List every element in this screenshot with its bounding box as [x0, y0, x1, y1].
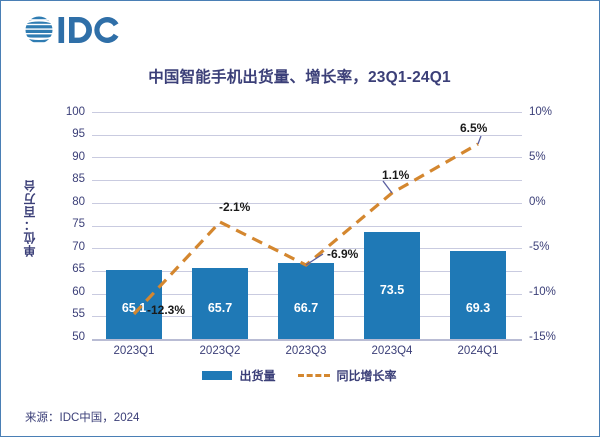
idc-globe-logo-icon — [23, 13, 141, 47]
x-label-2023Q3: 2023Q3 — [263, 345, 349, 357]
bar-value-2024Q1: 69.3 — [450, 301, 506, 315]
gridline — [92, 180, 522, 181]
line-value-2023Q3: -6.9% — [327, 247, 358, 261]
y-left-tick-85: 85 — [51, 174, 85, 185]
y-right-tick-m10: -10% — [529, 287, 577, 298]
bar-value-2023Q3: 66.7 — [278, 301, 334, 315]
legend-swatch-bar-icon — [202, 371, 232, 380]
y-left-tick-55: 55 — [51, 309, 85, 320]
legend-label-shipments: 出货量 — [239, 367, 275, 384]
bar-value-2023Q2: 65.7 — [192, 301, 248, 315]
y-left-tick-75: 75 — [51, 219, 85, 230]
y-left-tick-80: 80 — [51, 197, 85, 208]
header-bar — [1, 1, 598, 57]
gridline — [92, 157, 522, 158]
line-value-2023Q1: -12.3% — [147, 303, 185, 317]
gridline — [92, 248, 522, 249]
legend-item-growth[interactable]: 同比增长率 — [298, 367, 397, 384]
gridline — [92, 226, 522, 227]
y-left-tick-95: 95 — [51, 129, 85, 140]
bar-value-2023Q4: 73.5 — [364, 283, 420, 297]
y-right-tick-0: 0% — [529, 197, 577, 208]
gridline — [92, 112, 522, 113]
bar-2024Q1[interactable] — [450, 251, 506, 339]
source-note: 来源：IDC中国，2024 — [25, 409, 139, 425]
gridline — [92, 203, 522, 204]
y-right-tick-m15: -15% — [529, 332, 577, 343]
x-label-2023Q1: 2023Q1 — [91, 345, 177, 357]
y-left-tick-100: 100 — [51, 107, 85, 118]
line-value-2023Q2: -2.1% — [219, 200, 250, 214]
y-left-tick-60: 60 — [51, 287, 85, 298]
y-right-tick-10: 10% — [529, 107, 577, 118]
chart-legend: 出货量 同比增长率 — [1, 367, 598, 384]
y-left-tick-65: 65 — [51, 264, 85, 275]
x-axis-line — [92, 339, 522, 341]
legend-swatch-line-icon — [298, 374, 330, 377]
y-left-tick-70: 70 — [51, 242, 85, 253]
idc-logo — [23, 11, 141, 49]
x-label-2023Q2: 2023Q2 — [177, 345, 263, 357]
legend-item-shipments[interactable]: 出货量 — [202, 367, 275, 384]
y-axis-title: 单位：百万台 — [21, 179, 38, 257]
x-label-2024Q1: 2024Q1 — [435, 345, 521, 357]
y-left-tick-90: 90 — [51, 152, 85, 163]
x-label-2023Q4: 2023Q4 — [349, 345, 435, 357]
chart-title: 中国智能手机出货量、增长率，23Q1-24Q1 — [1, 65, 598, 87]
y-left-tick-50: 50 — [51, 332, 85, 343]
legend-label-growth: 同比增长率 — [337, 367, 397, 384]
line-value-2023Q4: 1.1% — [382, 168, 409, 182]
y-right-tick-5: 5% — [529, 152, 577, 163]
gridline — [92, 135, 522, 136]
y-right-tick-m5: -5% — [529, 242, 577, 253]
chart-page: 中国智能手机出货量、增长率，23Q1-24Q1 单位：百万台 100 95 90… — [0, 0, 600, 437]
line-value-2024Q1: 6.5% — [460, 121, 487, 135]
